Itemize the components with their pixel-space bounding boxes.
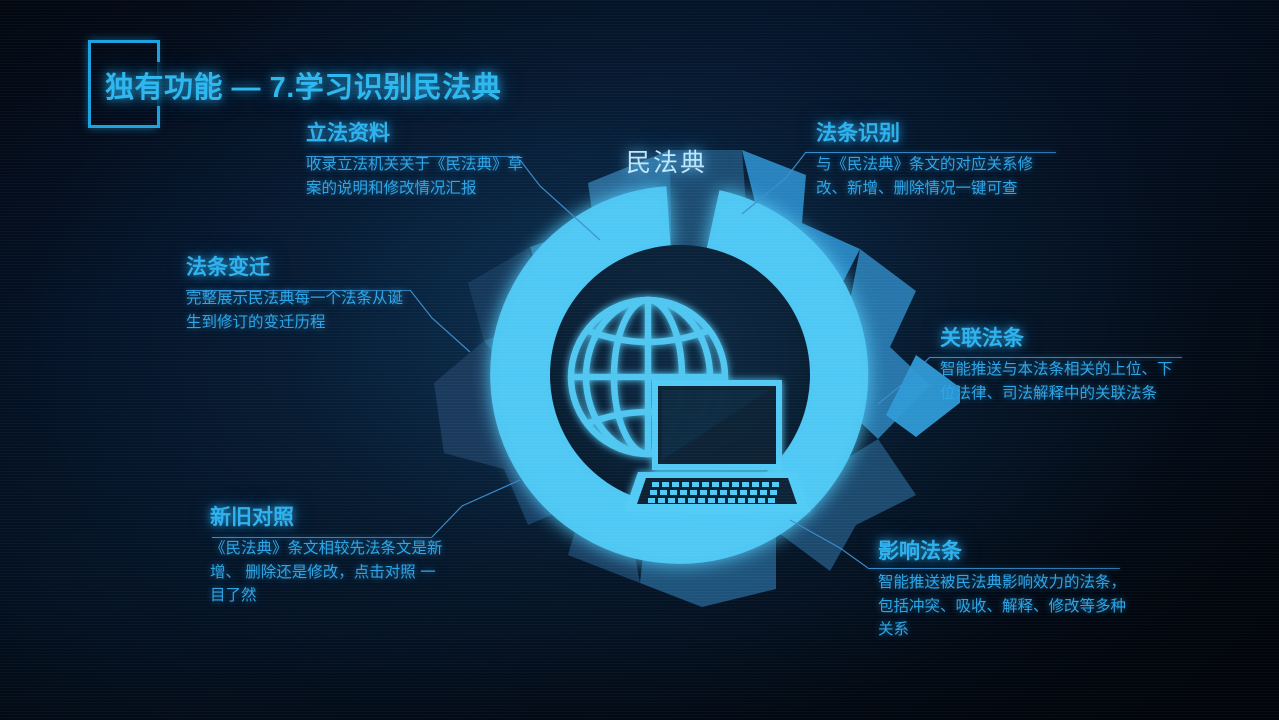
callout-body: 完整展示民法典每一个法条从诞生到修订的变迁历程 [186, 282, 418, 334]
callout-body: 收录立法机关关于《民法典》草案的说明和修改情况汇报 [306, 148, 528, 200]
gear-ring-svg [400, 140, 960, 610]
callout-heading: 关联法条 [940, 327, 1180, 353]
callout-body: 智能推送与本法条相关的上位、下位法律、司法解释中的关联法条 [940, 353, 1180, 405]
callout-related-articles[interactable]: 关联法条 智能推送与本法条相关的上位、下位法律、司法解释中的关联法条 [940, 327, 1180, 405]
callout-heading: 法条识别 [816, 122, 1052, 148]
center-label: 民法典 [626, 143, 707, 179]
callout-article-recognition[interactable]: 法条识别 与《民法典》条文的对应关系修改、新增、删除情况一键可查 [816, 122, 1052, 200]
callout-old-new-comparison[interactable]: 新旧对照 《民法典》条文相较先法条文是新增、 删除还是修改，点击对照 一目了然 [210, 506, 450, 608]
callout-heading: 法条变迁 [186, 256, 418, 282]
callout-heading: 立法资料 [306, 122, 528, 148]
callout-affected-articles[interactable]: 影响法条 智能推送被民法典影响效力的法条，包括冲突、吸收、解释、修改等多种关系 [878, 540, 1126, 642]
callout-body: 《民法典》条文相较先法条文是新增、 删除还是修改，点击对照 一目了然 [210, 532, 450, 608]
page-title: 独有功能 — 7.学习识别民法典 [105, 64, 501, 106]
callout-heading: 新旧对照 [210, 506, 450, 532]
callout-heading: 影响法条 [878, 540, 1126, 566]
callout-article-evolution[interactable]: 法条变迁 完整展示民法典每一个法条从诞生到修订的变迁历程 [186, 256, 418, 334]
callout-legislation-materials[interactable]: 立法资料 收录立法机关关于《民法典》草案的说明和修改情况汇报 [306, 122, 528, 200]
callout-body: 与《民法典》条文的对应关系修改、新增、删除情况一键可查 [816, 148, 1052, 200]
central-diagram-graphic [400, 140, 960, 610]
slide-canvas: 独有功能 — 7.学习识别民法典 民法典 立法资料 收录立法机关关于《民法典》草… [0, 0, 1279, 720]
callout-body: 智能推送被民法典影响效力的法条，包括冲突、吸收、解释、修改等多种关系 [878, 566, 1126, 642]
